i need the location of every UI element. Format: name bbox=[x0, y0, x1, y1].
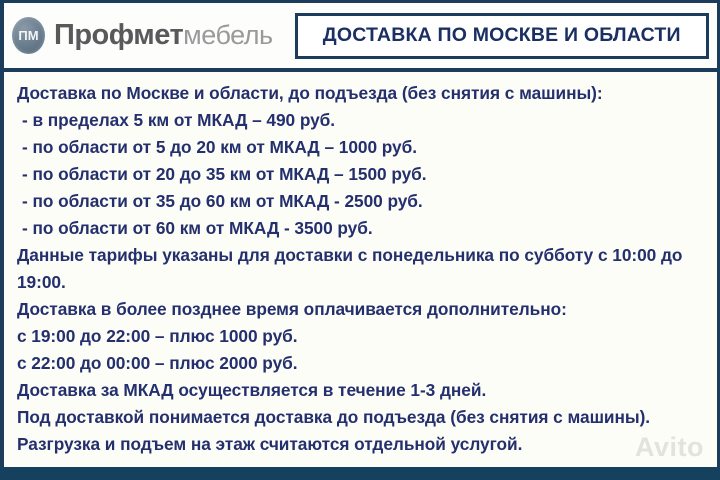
text-line: с 22:00 до 00:00 – плюс 2000 руб. bbox=[17, 350, 707, 377]
brand-name-secondary: мебель bbox=[183, 20, 272, 50]
text-line: - по области от 60 км от МКАД - 3500 руб… bbox=[17, 215, 707, 242]
text-line: Доставка по Москве и области, до подъезд… bbox=[17, 80, 707, 107]
footer-bar bbox=[0, 467, 720, 480]
brand-name: Профметмебель bbox=[54, 21, 273, 50]
text-line: Доставка в более позднее время оплачивае… bbox=[17, 296, 707, 323]
brand-logo: ПМ Профметмебель bbox=[12, 17, 273, 54]
text-line: - по области от 35 до 60 км от МКАД - 25… bbox=[17, 188, 707, 215]
header-banner: ДОСТАВКА ПО МОСКВЕ И ОБЛАСТИ bbox=[295, 13, 709, 59]
text-line: Под доставкой понимается доставка до под… bbox=[17, 404, 693, 458]
text-line: - по области от 5 до 20 км от МКАД – 100… bbox=[17, 134, 707, 161]
text-line: Данные тарифы указаны для доставки с пон… bbox=[17, 242, 693, 296]
delivery-terms-text: Доставка по Москве и области, до подъезд… bbox=[17, 80, 707, 458]
text-line: - в пределах 5 км от МКАД – 490 руб. bbox=[17, 107, 707, 134]
brand-name-primary: Профмет bbox=[54, 19, 183, 51]
banner-title: ДОСТАВКА ПО МОСКВЕ И ОБЛАСТИ bbox=[323, 24, 681, 47]
page-header: ПМ Профметмебель ДОСТАВКА ПО МОСКВЕ И ОБ… bbox=[4, 3, 717, 68]
circle-monogram-icon: ПМ bbox=[12, 17, 45, 54]
delivery-info-page: ПМ Профметмебель ДОСТАВКА ПО МОСКВЕ И ОБ… bbox=[0, 0, 720, 480]
text-line: с 19:00 до 22:00 – плюс 1000 руб. bbox=[17, 323, 707, 350]
text-line: - по области от 20 до 35 км от МКАД – 15… bbox=[17, 161, 707, 188]
header-divider bbox=[0, 68, 720, 72]
text-line: Доставка за МКАД осуществляется в течени… bbox=[17, 377, 707, 404]
logo-monogram-text: ПМ bbox=[18, 29, 38, 42]
